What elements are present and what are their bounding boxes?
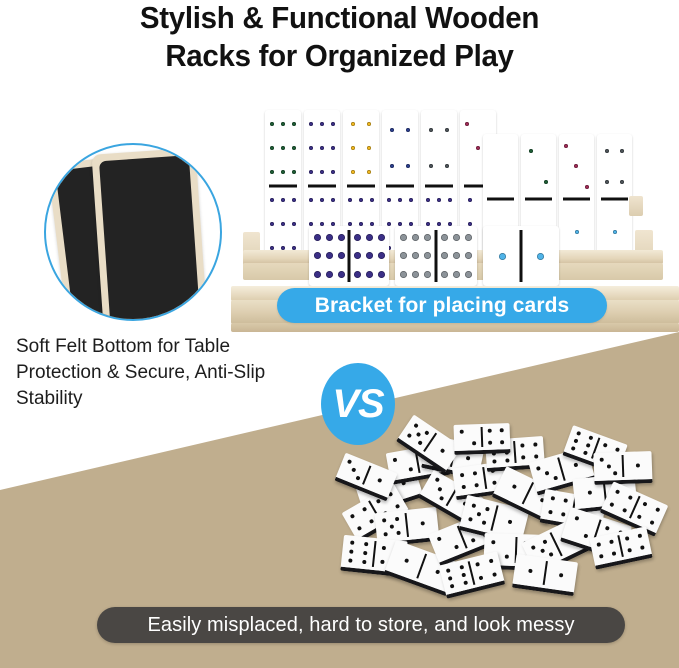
messy-caption-badge: Easily misplaced, hard to store, and loo… — [97, 607, 625, 643]
domino-pip — [382, 519, 386, 523]
domino-pip — [625, 536, 630, 541]
domino-pip — [364, 542, 368, 546]
domino-pip — [292, 122, 296, 126]
domino-pip — [436, 537, 441, 542]
domino-pip — [320, 198, 324, 202]
domino-pip — [368, 518, 373, 523]
domino-half — [349, 226, 389, 286]
domino-pip — [314, 271, 321, 278]
domino-pip — [398, 198, 402, 202]
domino-pip — [415, 431, 421, 437]
domino-pip — [363, 551, 367, 555]
domino-half — [481, 423, 510, 450]
domino-pip — [314, 234, 321, 241]
domino-pip — [309, 122, 313, 126]
domino-pip — [599, 554, 604, 559]
domino-pip — [479, 575, 484, 580]
domino-pip — [270, 122, 274, 126]
domino-pip — [380, 560, 384, 564]
messy-caption-label: Easily misplaced, hard to store, and loo… — [147, 614, 574, 637]
domino-pip — [367, 146, 371, 150]
domino-pip — [397, 530, 401, 534]
domino-pip — [540, 548, 545, 553]
domino-pip — [627, 548, 632, 553]
domino-pip — [439, 448, 445, 454]
domino-pip — [627, 495, 632, 500]
domino-pip — [292, 198, 296, 202]
domino-pip — [389, 524, 393, 528]
domino-pip — [400, 271, 407, 278]
domino-pip — [309, 146, 313, 150]
page-title: Stylish & Functional Wooden Racks for Or… — [17, 0, 662, 75]
bracket-badge: Bracket for placing cards — [277, 288, 607, 323]
domino-pip — [585, 164, 589, 168]
domino-pip — [492, 572, 497, 577]
domino-half — [559, 134, 594, 199]
domino-divider — [563, 198, 590, 201]
domino-pip — [394, 503, 399, 508]
domino-pip — [445, 128, 449, 132]
domino-tile-icon — [265, 110, 301, 262]
domino-pip — [292, 146, 296, 150]
domino-pip — [610, 502, 615, 507]
domino-pip — [477, 512, 482, 517]
domino-half — [309, 226, 349, 286]
domino-pip — [491, 540, 495, 544]
domino-pip — [412, 234, 419, 241]
domino-pip — [605, 149, 609, 153]
domino-pip — [465, 234, 472, 241]
domino-pip — [407, 433, 413, 439]
domino-half — [483, 226, 521, 286]
domino-half — [343, 110, 379, 186]
domino-pip — [492, 481, 497, 486]
domino-pip — [366, 234, 373, 241]
domino-half — [593, 452, 623, 481]
domino-pip — [576, 431, 581, 436]
domino-pip — [465, 170, 469, 174]
domino-pip — [465, 146, 469, 150]
domino-pip — [429, 164, 433, 168]
domino-pip — [446, 568, 451, 573]
domino-divider — [487, 198, 514, 201]
feature-description: Soft Felt Bottom for Table Protection & … — [16, 334, 316, 412]
domino-pip — [270, 170, 274, 174]
domino-pip — [612, 551, 617, 556]
domino-tile-icon — [453, 423, 510, 455]
domino-divider — [520, 230, 523, 282]
domino-half — [395, 226, 436, 286]
domino-pip — [326, 252, 333, 259]
domino-pip — [281, 170, 285, 174]
domino-half — [618, 526, 652, 559]
domino-pip — [605, 526, 610, 531]
domino-pip — [331, 122, 335, 126]
domino-pip — [387, 198, 391, 202]
domino-pip — [309, 170, 313, 174]
domino-pip — [406, 164, 410, 168]
domino-pip — [437, 486, 442, 491]
domino-pip — [409, 198, 413, 202]
domino-pip — [270, 198, 274, 202]
domino-pip — [459, 473, 464, 478]
domino-divider — [348, 230, 351, 282]
domino-pip — [558, 573, 563, 578]
domino-pip — [488, 559, 493, 564]
domino-pip — [281, 198, 285, 202]
domino-pip — [383, 532, 387, 536]
domino-pip — [453, 234, 460, 241]
domino-half — [543, 558, 578, 592]
domino-half — [341, 535, 376, 570]
domino-pip — [620, 180, 624, 184]
domino-tile-icon — [483, 226, 559, 286]
domino-pip — [367, 170, 371, 174]
domino-pip — [400, 234, 407, 241]
domino-pip — [349, 549, 353, 553]
domino-pip — [620, 149, 624, 153]
domino-pip — [529, 149, 533, 153]
domino-tile-icon — [593, 451, 652, 485]
domino-pip — [585, 185, 589, 189]
domino-pip — [508, 520, 513, 525]
domino-pip — [350, 540, 354, 544]
domino-pip — [417, 440, 423, 446]
domino-tile-icon — [309, 226, 389, 286]
domino-divider — [386, 185, 414, 188]
domino-pip — [564, 144, 568, 148]
domino-pip — [424, 430, 430, 436]
domino-pip — [564, 499, 569, 504]
domino-pip — [643, 502, 648, 507]
domino-divider — [601, 198, 628, 201]
domino-pip — [460, 430, 464, 434]
domino-pip — [574, 185, 578, 189]
domino-pip — [528, 569, 533, 574]
domino-pip — [314, 252, 321, 259]
domino-pip — [488, 440, 492, 444]
domino-pip — [468, 517, 473, 522]
domino-pip — [615, 490, 620, 495]
domino-pip — [544, 180, 548, 184]
domino-pip — [530, 545, 535, 550]
domino-pip — [475, 483, 480, 488]
domino-pip — [281, 146, 285, 150]
domino-pip — [637, 533, 642, 538]
domino-pip — [473, 471, 478, 476]
domino-half — [304, 110, 340, 186]
domino-pip — [485, 507, 490, 512]
domino-divider — [435, 230, 438, 282]
domino-pip — [609, 539, 614, 544]
domino-pip — [505, 458, 509, 462]
domino-pip — [292, 170, 296, 174]
domino-pip — [390, 128, 394, 132]
domino-pip — [320, 122, 324, 126]
domino-pip — [499, 253, 506, 260]
domino-divider — [425, 185, 453, 188]
domino-pip — [441, 252, 448, 259]
domino-pip — [406, 128, 410, 132]
domino-tile-icon — [512, 554, 578, 596]
domino-pip — [521, 455, 525, 459]
domino-pip — [637, 514, 642, 519]
felt-pad-front-icon — [91, 148, 208, 321]
domino-divider — [347, 185, 375, 188]
domino-pip — [348, 558, 352, 562]
domino-pip — [351, 122, 355, 126]
domino-pip — [465, 252, 472, 259]
domino-pip — [465, 122, 469, 126]
domino-pip — [377, 478, 382, 483]
domino-pip — [461, 485, 466, 490]
domino-pip — [545, 471, 550, 476]
domino-pip — [500, 428, 504, 432]
domino-pip — [413, 423, 419, 429]
domino-pip — [331, 198, 335, 202]
domino-pip — [465, 271, 472, 278]
domino-pip — [505, 555, 509, 559]
domino-pip — [270, 146, 274, 150]
domino-pip — [348, 198, 352, 202]
domino-pip — [585, 443, 590, 448]
domino-pip — [573, 462, 578, 467]
domino-pip — [537, 253, 544, 260]
domino-tile-icon — [559, 134, 594, 264]
domino-pip — [326, 271, 333, 278]
domino-half — [382, 110, 418, 186]
domino-pip — [357, 525, 362, 530]
domino-pip — [472, 441, 476, 445]
domino-half — [265, 110, 301, 186]
domino-pip — [292, 222, 296, 226]
rack-front-rail-lip — [231, 323, 679, 332]
domino-pip — [583, 533, 588, 538]
domino-pip — [468, 198, 472, 202]
domino-pip — [309, 198, 313, 202]
domino-pip — [574, 516, 579, 521]
domino-pip — [588, 435, 593, 440]
domino-pip — [424, 234, 431, 241]
domino-pip — [354, 234, 361, 241]
domino-pip — [596, 542, 601, 547]
domino-pip — [640, 545, 645, 550]
wooden-rack-scene — [231, 100, 679, 282]
domino-pip — [649, 519, 654, 524]
domino-pip — [393, 457, 398, 462]
headline-line-2: Racks for Organized Play — [17, 37, 662, 75]
domino-pip — [338, 234, 345, 241]
domino-pip — [476, 122, 480, 126]
domino-pip — [320, 146, 324, 150]
domino-pip — [320, 170, 324, 174]
domino-tile-icon — [395, 226, 477, 286]
domino-pip — [587, 490, 591, 494]
domino-pip — [499, 165, 503, 169]
domino-pip — [270, 222, 274, 226]
domino-pip — [548, 509, 553, 514]
rack-step-right — [629, 196, 643, 216]
domino-pip — [448, 576, 453, 581]
domino-half — [436, 226, 477, 286]
domino-half — [483, 134, 518, 199]
domino-divider — [308, 185, 336, 188]
felt-pads-group — [46, 145, 220, 319]
domino-pip — [613, 230, 617, 234]
domino-pip — [390, 164, 394, 168]
domino-pip — [378, 252, 385, 259]
domino-pip — [367, 122, 371, 126]
domino-pip — [543, 539, 548, 544]
domino-pip — [487, 122, 491, 126]
domino-pip — [573, 438, 578, 443]
domino-pip — [476, 562, 481, 567]
domino-pip — [362, 507, 367, 512]
domino-pip — [482, 520, 487, 525]
domino-pip — [437, 198, 441, 202]
domino-pip — [338, 252, 345, 259]
domino-pip — [351, 467, 356, 472]
domino-divider — [525, 198, 552, 201]
domino-pip — [441, 234, 448, 241]
domino-pip — [351, 170, 355, 174]
domino-pip — [366, 271, 373, 278]
domino-pip — [500, 440, 504, 444]
domino-pip — [564, 185, 568, 189]
domino-pip — [326, 234, 333, 241]
domino-pip — [603, 443, 608, 448]
domino-pip — [599, 458, 603, 462]
domino-pip — [574, 164, 578, 168]
messy-domino-pile — [336, 418, 679, 608]
domino-pip — [454, 544, 459, 549]
domino-half — [521, 226, 559, 286]
domino-pip — [553, 476, 558, 481]
domino-pip — [400, 252, 407, 259]
domino-pip — [622, 507, 627, 512]
domino-pip — [359, 198, 363, 202]
domino-divider — [269, 185, 297, 188]
domino-pip — [461, 573, 466, 578]
domino-pip — [564, 164, 568, 168]
domino-pip — [549, 552, 554, 557]
domino-pip — [350, 514, 355, 519]
domino-half — [452, 464, 487, 496]
versus-badge-label: VS — [332, 382, 383, 427]
felt-bottom-callout-circle — [44, 143, 222, 321]
domino-pip — [606, 464, 610, 468]
domino-pip — [463, 581, 468, 586]
domino-pip — [445, 164, 449, 168]
domino-pip — [408, 467, 413, 472]
domino-pip — [614, 471, 618, 475]
domino-pip — [655, 507, 660, 512]
domino-pip — [534, 455, 538, 459]
domino-pip — [382, 546, 386, 550]
domino-pip — [635, 463, 639, 467]
bracket-badge-label: Bracket for placing cards — [315, 294, 570, 318]
domino-pip — [450, 584, 455, 589]
domino-pip — [354, 252, 361, 259]
domino-half — [453, 424, 482, 451]
domino-pip — [370, 198, 374, 202]
domino-pip — [459, 565, 464, 570]
domino-pip — [448, 198, 452, 202]
domino-pip — [378, 271, 385, 278]
headline-line-1: Stylish & Functional Wooden — [17, 0, 662, 37]
domino-pip — [520, 443, 524, 447]
domino-pip — [439, 496, 444, 501]
domino-pip — [453, 271, 460, 278]
domino-pip — [571, 446, 576, 451]
domino-pip — [351, 146, 355, 150]
domino-pip — [465, 456, 470, 461]
domino-pip — [347, 459, 352, 464]
domino-pip — [453, 252, 460, 259]
domino-half — [597, 134, 632, 199]
domino-pip — [331, 170, 335, 174]
domino-pip — [378, 234, 385, 241]
domino-pip — [424, 271, 431, 278]
domino-half — [421, 110, 457, 186]
product-feature-image: Stylish & Functional Wooden Racks for Or… — [0, 0, 679, 668]
domino-pip — [574, 144, 578, 148]
domino-pip — [536, 466, 541, 471]
domino-tile-icon — [597, 134, 632, 264]
domino-pip — [470, 537, 475, 542]
domino-pip — [424, 252, 431, 259]
domino-pip — [281, 222, 285, 226]
domino-pip — [471, 503, 476, 508]
domino-pip — [412, 271, 419, 278]
domino-half — [622, 451, 652, 480]
domino-pip — [511, 484, 516, 489]
domino-pip — [354, 271, 361, 278]
domino-half — [512, 554, 547, 588]
domino-pip — [434, 477, 439, 482]
domino-pip — [476, 146, 480, 150]
domino-pip — [366, 252, 373, 259]
domino-pip — [476, 170, 480, 174]
felt-surface — [99, 155, 201, 321]
domino-pip — [575, 230, 579, 234]
domino-pip — [281, 122, 285, 126]
domino-pip — [331, 146, 335, 150]
domino-pip — [529, 180, 533, 184]
domino-pip — [412, 252, 419, 259]
domino-pip — [583, 450, 588, 455]
domino-pip — [429, 128, 433, 132]
versus-badge: VS — [321, 363, 395, 445]
domino-pip — [355, 476, 360, 481]
domino-pip — [441, 271, 448, 278]
domino-pip — [404, 558, 409, 563]
domino-pip — [533, 442, 537, 446]
domino-pip — [426, 198, 430, 202]
domino-pip — [492, 459, 496, 463]
domino-pip — [605, 180, 609, 184]
domino-pip — [487, 429, 491, 433]
domino-pip — [395, 517, 399, 521]
domino-pip — [338, 271, 345, 278]
domino-pip — [544, 149, 548, 153]
domino-pip — [550, 496, 555, 501]
domino-pip — [561, 512, 566, 517]
domino-pip — [362, 560, 366, 564]
domino-pip — [585, 144, 589, 148]
domino-pip — [420, 521, 424, 525]
domino-half — [521, 134, 556, 199]
